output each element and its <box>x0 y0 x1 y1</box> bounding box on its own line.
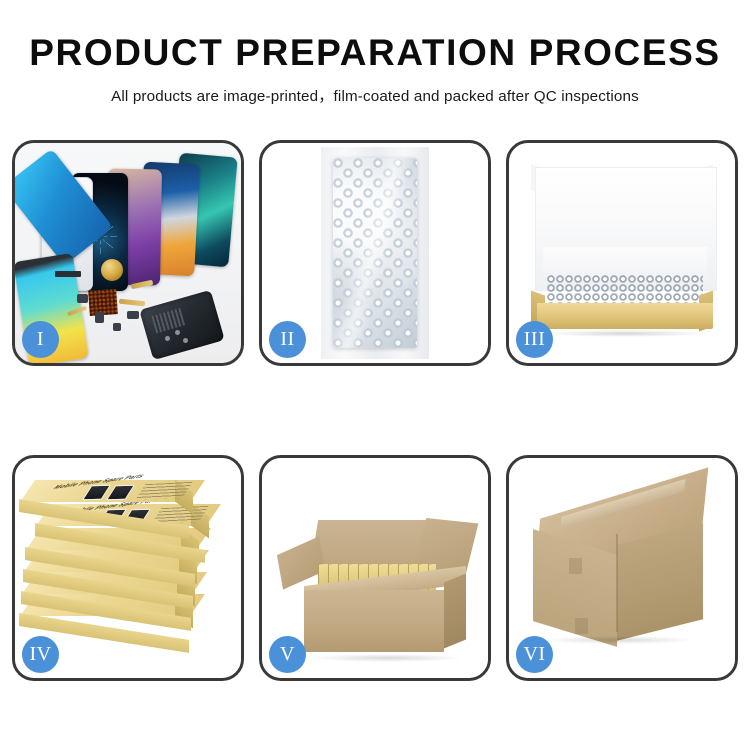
step-badge-1: I <box>22 321 59 358</box>
carton-corner-seam <box>616 534 618 632</box>
process-step-panel-5: V <box>259 455 491 681</box>
process-step-panel-1: I <box>12 140 244 366</box>
step-badge-5: V <box>269 636 306 673</box>
carton-handle-tab-lower <box>575 618 588 634</box>
carton-shadow <box>543 636 695 644</box>
process-step-grid: I II III <box>12 140 738 681</box>
page-title: PRODUCT PREPARATION PROCESS <box>0 34 750 73</box>
bubble-wrapped-product <box>333 158 417 348</box>
step-badge-6: VI <box>516 636 553 673</box>
plastic-sheen <box>333 158 417 348</box>
carton-shadow <box>312 654 462 662</box>
spare-chip-1 <box>77 294 88 303</box>
process-step-panel-4: Mobile Phone Spare Parts Mobile Phone Sp… <box>12 455 244 681</box>
carton-handle-tab-upper <box>569 558 582 574</box>
carton-side-right <box>444 574 466 649</box>
process-step-panel-2: II <box>259 140 491 366</box>
screw-1 <box>165 336 170 341</box>
page-header: PRODUCT PREPARATION PROCESS All products… <box>0 0 750 106</box>
spare-chip-2 <box>95 312 104 323</box>
screw-3 <box>183 338 188 343</box>
retail-box-labeled-upper: Mobile Phone Spare Parts <box>19 480 205 510</box>
carton-front <box>304 590 444 652</box>
screw-2 <box>175 330 180 335</box>
step-badge-2: II <box>269 321 306 358</box>
wireless-charging-coil <box>101 259 123 281</box>
spare-chip-3 <box>127 311 139 319</box>
earpiece-speaker-part <box>55 271 81 277</box>
step-badge-4: IV <box>22 636 59 673</box>
box-shadow <box>545 330 705 337</box>
spare-chip-4 <box>113 323 121 331</box>
process-step-panel-6: VI <box>506 455 738 681</box>
step-badge-3: III <box>516 321 553 358</box>
page-subtitle: All products are image-printed，film-coat… <box>0 84 750 106</box>
process-step-panel-3: III <box>506 140 738 366</box>
box-front-panel <box>537 303 713 329</box>
